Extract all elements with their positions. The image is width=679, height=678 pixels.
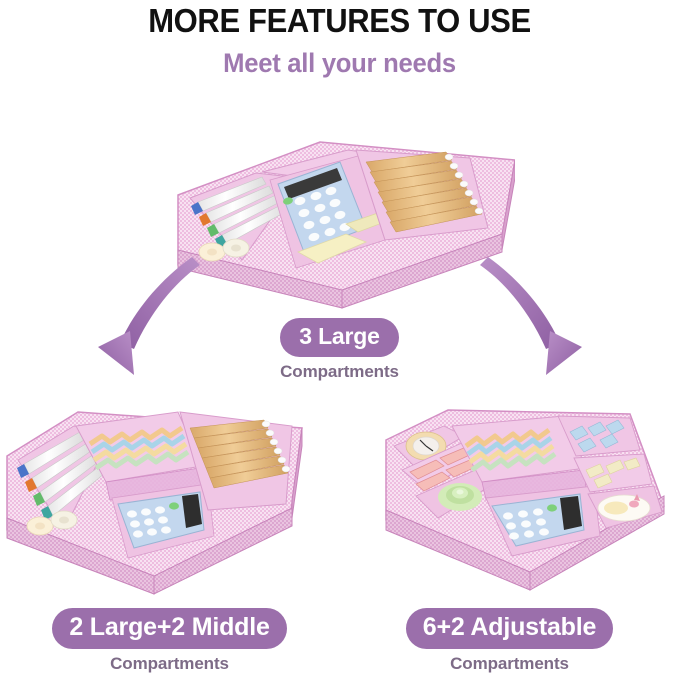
infographic-page: MORE FEATURES TO USE Meet all your needs	[0, 0, 679, 678]
page-subtitle: Meet all your needs	[17, 48, 662, 79]
organizer-tray-3-large	[170, 100, 515, 310]
organizer-tray-2-large-2-middle	[2, 398, 327, 603]
badge-caption: Compartments	[340, 654, 679, 674]
badge-6-plus-2-adjustable: 6+2 Adjustable Compartments	[340, 608, 679, 674]
badge-pill-label: 2 Large+2 Middle	[52, 608, 286, 649]
organizer-tray-6-plus-2-adjustable	[368, 398, 679, 603]
arrow-down-right-icon	[470, 255, 620, 390]
badge-caption: Compartments	[0, 654, 339, 674]
arrow-down-left-icon	[60, 255, 210, 390]
badge-pill-label: 6+2 Adjustable	[406, 608, 613, 649]
badge-2-large-2-middle: 2 Large+2 Middle Compartments	[0, 608, 339, 674]
page-title: MORE FEATURES TO USE	[20, 2, 658, 40]
badge-pill-label: 3 Large	[280, 318, 398, 357]
